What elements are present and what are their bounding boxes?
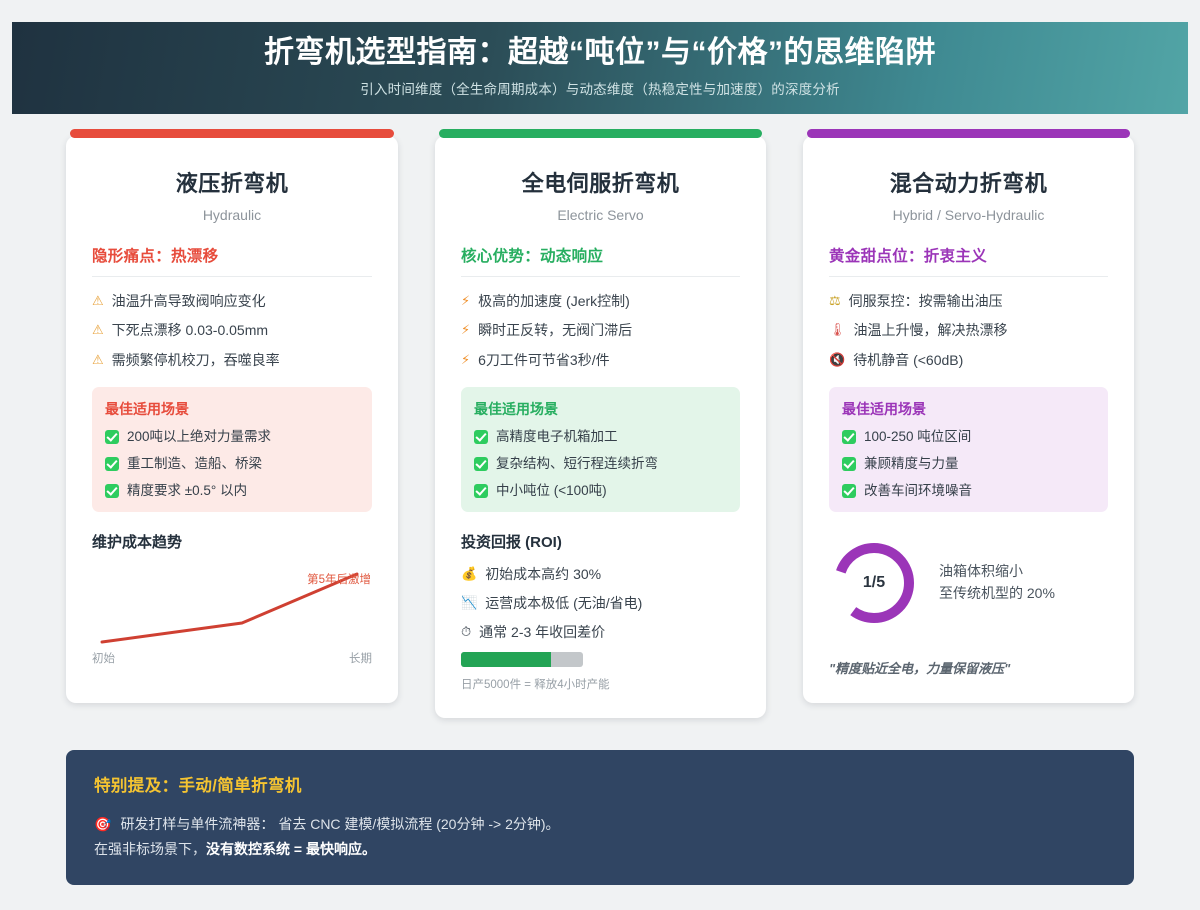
card-accent-bar: [70, 129, 394, 138]
feature-text: 油温升高导致阀响应变化: [112, 291, 266, 311]
progress-fill: [461, 652, 551, 667]
target-icon: 🎯: [94, 812, 111, 837]
page-subtitle: 引入时间维度（全生命周期成本）与动态维度（热稳定性与加速度）的深度分析: [360, 78, 840, 98]
lightning-icon: ⚡: [461, 320, 470, 340]
check-icon: [474, 430, 488, 444]
oil-tank-donut-chart: 1/5 油箱体积缩小 至传统机型的 20%: [829, 538, 1108, 628]
balance-scale-icon: ⚖: [829, 291, 841, 311]
list-item: ⚡ 瞬时正反转，无阀门滞后: [461, 320, 740, 340]
feature-text: 油温上升慢，解决热漂移: [854, 320, 1008, 340]
list-item: 兼顾精度与力量: [842, 455, 1095, 474]
scenario-title: 最佳适用场景: [105, 399, 359, 419]
scenario-list: 100-250 吨位区间 兼顾精度与力量 改善车间环境噪音: [842, 428, 1095, 501]
check-icon: [842, 430, 856, 444]
card-subtitle-en: Hydraulic: [92, 207, 372, 223]
card-title: 全电伺服折弯机: [461, 166, 740, 198]
feature-list: ⚡ 极高的加速度 (Jerk控制) ⚡ 瞬时正反转，无阀门滞后 ⚡ 6刀工件可节…: [461, 291, 740, 370]
check-icon: [105, 457, 119, 471]
roi-text: 运营成本极低 (无油/省电): [485, 593, 642, 613]
page-header: 折弯机选型指南：超越“吨位”与“价格”的思维陷阱 引入时间维度（全生命周期成本）…: [12, 22, 1188, 114]
list-item: ⚡ 极高的加速度 (Jerk控制): [461, 291, 740, 311]
chart-section-title: 维护成本趋势: [92, 531, 372, 552]
check-icon: [105, 430, 119, 444]
donut-desc-line2: 至传统机型的 20%: [939, 583, 1055, 605]
feature-text: 瞬时正反转，无阀门滞后: [478, 320, 632, 340]
card-tagline: 隐形痛点：热漂移: [92, 244, 372, 277]
check-icon: [474, 457, 488, 471]
feature-list: ⚖ 伺服泵控：按需输出油压 🌡 油温上升慢，解决热漂移 🔇 待机静音 (<60d…: [829, 291, 1108, 370]
scenario-text: 重工制造、造船、桥梁: [127, 455, 262, 474]
feature-text: 6刀工件可节省3秒/件: [478, 350, 609, 370]
axis-label-end: 长期: [349, 650, 372, 666]
check-icon: [842, 457, 856, 471]
money-bag-icon: 💰: [461, 564, 477, 584]
roi-list: 💰 初始成本高约 30% 📉 运营成本极低 (无油/省电) ⏱ 通常 2-3 年…: [461, 564, 740, 643]
roi-text: 通常 2-3 年收回差价: [479, 622, 605, 642]
scenario-list: 200吨以上绝对力量需求 重工制造、造船、桥梁 精度要求 ±0.5° 以内: [105, 428, 359, 501]
scenario-list: 高精度电子机箱加工 复杂结构、短行程连续折弯 中小吨位 (<100吨): [474, 428, 727, 501]
scenario-text: 高精度电子机箱加工: [496, 428, 618, 447]
list-item: 高精度电子机箱加工: [474, 428, 727, 447]
list-item: ⚠ 下死点漂移 0.03-0.05mm: [92, 320, 372, 340]
scenario-box: 最佳适用场景 200吨以上绝对力量需求 重工制造、造船、桥梁 精度要求 ±0.5…: [92, 387, 372, 512]
footer-line-1: 🎯 研发打样与单件流神器： 省去 CNC 建模/模拟流程 (20分钟 -> 2分…: [94, 812, 1106, 837]
card-subtitle-en: Hybrid / Servo-Hydraulic: [829, 207, 1108, 223]
scenario-text: 改善车间环境噪音: [864, 482, 972, 501]
footer-line-2-bold: 没有数控系统 = 最快响应。: [206, 841, 376, 857]
list-item: 中小吨位 (<100吨): [474, 482, 727, 501]
list-item: ⚡ 6刀工件可节省3秒/件: [461, 350, 740, 370]
card-quote: "精度贴近全电，力量保留液压": [829, 658, 1108, 677]
scenario-title: 最佳适用场景: [474, 399, 727, 419]
chart-annotation: 第5年后激增: [307, 571, 371, 587]
progress-caption: 日产5000件 = 释放4小时产能: [461, 676, 740, 692]
roi-text: 初始成本高约 30%: [485, 564, 601, 584]
mute-icon: 🔇: [829, 350, 845, 370]
card-accent-bar: [439, 129, 762, 138]
list-item: 重工制造、造船、桥梁: [105, 455, 359, 474]
chart-axis-labels: 初始 长期: [92, 650, 372, 666]
feature-text: 下死点漂移 0.03-0.05mm: [112, 320, 268, 340]
footer-banner: 特别提及：手动/简单折弯机 🎯 研发打样与单件流神器： 省去 CNC 建模/模拟…: [66, 750, 1134, 885]
list-item: 改善车间环境噪音: [842, 482, 1095, 501]
card-hybrid[interactable]: 混合动力折弯机 Hybrid / Servo-Hydraulic 黄金甜点位：折…: [803, 136, 1134, 703]
card-electric-servo[interactable]: 全电伺服折弯机 Electric Servo 核心优势：动态响应 ⚡ 极高的加速…: [435, 136, 766, 718]
page-title: 折弯机选型指南：超越“吨位”与“价格”的思维陷阱: [264, 34, 936, 72]
list-item: 200吨以上绝对力量需求: [105, 428, 359, 447]
donut-desc-line1: 油箱体积缩小: [939, 561, 1055, 583]
card-accent-bar: [807, 129, 1130, 138]
scenario-text: 兼顾精度与力量: [864, 455, 959, 474]
scenario-box: 最佳适用场景 100-250 吨位区间 兼顾精度与力量 改善车间环境噪音: [829, 387, 1108, 512]
feature-text: 极高的加速度 (Jerk控制): [478, 291, 630, 311]
stopwatch-icon: ⏱: [461, 622, 471, 642]
maintenance-cost-line-chart: 第5年后激增 初始 长期: [92, 560, 372, 668]
card-title: 混合动力折弯机: [829, 166, 1108, 198]
scenario-text: 复杂结构、短行程连续折弯: [496, 455, 658, 474]
list-item: 复杂结构、短行程连续折弯: [474, 455, 727, 474]
donut-graphic: 1/5: [829, 538, 919, 628]
donut-center-label: 1/5: [829, 538, 919, 628]
warning-icon: ⚠: [92, 350, 104, 370]
axis-label-start: 初始: [92, 650, 115, 666]
scenario-box: 最佳适用场景 高精度电子机箱加工 复杂结构、短行程连续折弯 中小吨位 (<100…: [461, 387, 740, 512]
check-icon: [474, 484, 488, 498]
chart-decreasing-icon: 📉: [461, 593, 477, 613]
card-hydraulic[interactable]: 液压折弯机 Hydraulic 隐形痛点：热漂移 ⚠ 油温升高导致阀响应变化 ⚠…: [66, 136, 398, 703]
card-tagline: 核心优势：动态响应: [461, 244, 740, 277]
scenario-text: 中小吨位 (<100吨): [496, 482, 607, 501]
scenario-text: 100-250 吨位区间: [864, 428, 971, 447]
list-item: 🔇 待机静音 (<60dB): [829, 350, 1108, 370]
feature-text: 需频繁停机校刀，吞噬良率: [112, 350, 280, 370]
thermometer-icon: 🌡: [829, 320, 846, 340]
card-subtitle-en: Electric Servo: [461, 207, 740, 223]
lightning-icon: ⚡: [461, 291, 470, 311]
footer-line-1-text: 研发打样与单件流神器： 省去 CNC 建模/模拟流程 (20分钟 -> 2分钟)…: [120, 812, 559, 837]
infographic-page: 折弯机选型指南：超越“吨位”与“价格”的思维陷阱 引入时间维度（全生命周期成本）…: [0, 22, 1200, 910]
scenario-text: 200吨以上绝对力量需求: [127, 428, 271, 447]
card-row: 液压折弯机 Hydraulic 隐形痛点：热漂移 ⚠ 油温升高导致阀响应变化 ⚠…: [0, 114, 1200, 718]
list-item: 精度要求 ±0.5° 以内: [105, 482, 359, 501]
list-item: ⏱ 通常 2-3 年收回差价: [461, 622, 740, 642]
scenario-text: 精度要求 ±0.5° 以内: [127, 482, 247, 501]
list-item: 💰 初始成本高约 30%: [461, 564, 740, 584]
card-title: 液压折弯机: [92, 166, 372, 198]
warning-icon: ⚠: [92, 291, 104, 311]
feature-list: ⚠ 油温升高导致阀响应变化 ⚠ 下死点漂移 0.03-0.05mm ⚠ 需频繁停…: [92, 291, 372, 370]
list-item: ⚠ 油温升高导致阀响应变化: [92, 291, 372, 311]
lightning-icon: ⚡: [461, 350, 470, 370]
list-item: ⚠ 需频繁停机校刀，吞噬良率: [92, 350, 372, 370]
capacity-progress-bar: [461, 652, 583, 667]
warning-icon: ⚠: [92, 320, 104, 340]
list-item: 🌡 油温上升慢，解决热漂移: [829, 320, 1108, 340]
card-tagline: 黄金甜点位：折衷主义: [829, 244, 1108, 277]
footer-title: 特别提及：手动/简单折弯机: [94, 772, 1106, 796]
feature-text: 待机静音 (<60dB): [853, 350, 963, 370]
check-icon: [842, 484, 856, 498]
scenario-title: 最佳适用场景: [842, 399, 1095, 419]
check-icon: [105, 484, 119, 498]
donut-description: 油箱体积缩小 至传统机型的 20%: [939, 561, 1055, 604]
list-item: 100-250 吨位区间: [842, 428, 1095, 447]
list-item: ⚖ 伺服泵控：按需输出油压: [829, 291, 1108, 311]
roi-section-title: 投资回报 (ROI): [461, 531, 740, 552]
footer-line-2: 在强非标场景下，没有数控系统 = 最快响应。: [94, 837, 1106, 862]
footer-line-2-prefix: 在强非标场景下，: [94, 841, 206, 857]
list-item: 📉 运营成本极低 (无油/省电): [461, 593, 740, 613]
feature-text: 伺服泵控：按需输出油压: [849, 291, 1003, 311]
